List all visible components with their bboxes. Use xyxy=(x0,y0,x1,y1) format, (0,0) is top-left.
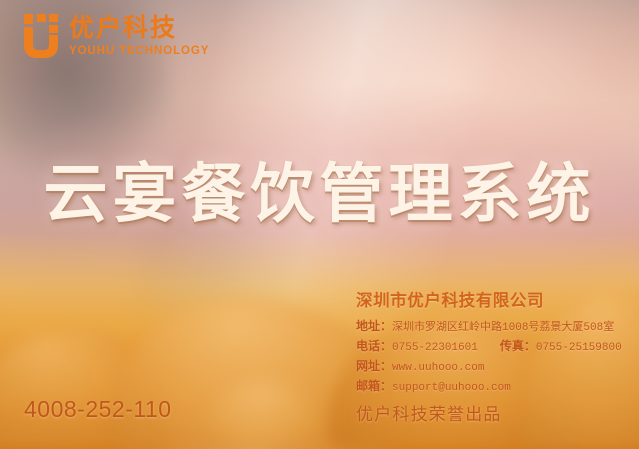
brand-name-en: YOUHU TECHNOLOGY xyxy=(69,44,209,58)
email-label: 邮箱： xyxy=(356,379,392,393)
splash-screen: 优户科技 YOUHU TECHNOLOGY 云宴餐饮管理系统 深圳市优户科技有限… xyxy=(0,0,639,449)
page-title: 云宴餐饮管理系统 xyxy=(0,143,639,235)
fax-label: 传真： xyxy=(500,339,536,353)
contact-row-address: 地址：深圳市罗湖区红岭中路1008号荔景大厦508室 xyxy=(356,317,622,337)
email-value[interactable]: support@uuhooo.com xyxy=(392,382,511,394)
brand-name-cn: 优户科技 xyxy=(69,15,209,42)
contact-row-email: 邮箱：support@uuhooo.com xyxy=(356,377,622,397)
address-label: 地址： xyxy=(356,319,392,333)
contact-block: 深圳市优户科技有限公司 地址：深圳市罗湖区红岭中路1008号荔景大厦508室 电… xyxy=(356,290,622,397)
company-name: 深圳市优户科技有限公司 xyxy=(356,290,622,312)
youhu-u-mark-icon xyxy=(24,14,58,58)
footer-tagline: 优户科技荣誉出品 xyxy=(356,400,502,425)
brand-logo: 优户科技 YOUHU TECHNOLOGY xyxy=(24,14,209,58)
phone-label: 电话： xyxy=(356,339,392,353)
website-label: 网址： xyxy=(356,359,392,373)
fax-value: 0755-25159800 xyxy=(536,342,622,354)
contact-row-phone: 电话：0755-22301601传真：0755-25159800 xyxy=(356,337,622,357)
brand-wordmark: 优户科技 YOUHU TECHNOLOGY xyxy=(69,14,209,58)
phone-value: 0755-22301601 xyxy=(392,342,478,354)
website-value[interactable]: www.uuhooo.com xyxy=(392,362,484,374)
contact-row-website: 网址：www.uuhooo.com xyxy=(356,357,622,377)
hotline-number: 4008-252-110 xyxy=(24,396,172,423)
address-value: 深圳市罗湖区红岭中路1008号荔景大厦508室 xyxy=(392,322,614,334)
splash-content: 优户科技 YOUHU TECHNOLOGY 云宴餐饮管理系统 深圳市优户科技有限… xyxy=(0,0,639,449)
